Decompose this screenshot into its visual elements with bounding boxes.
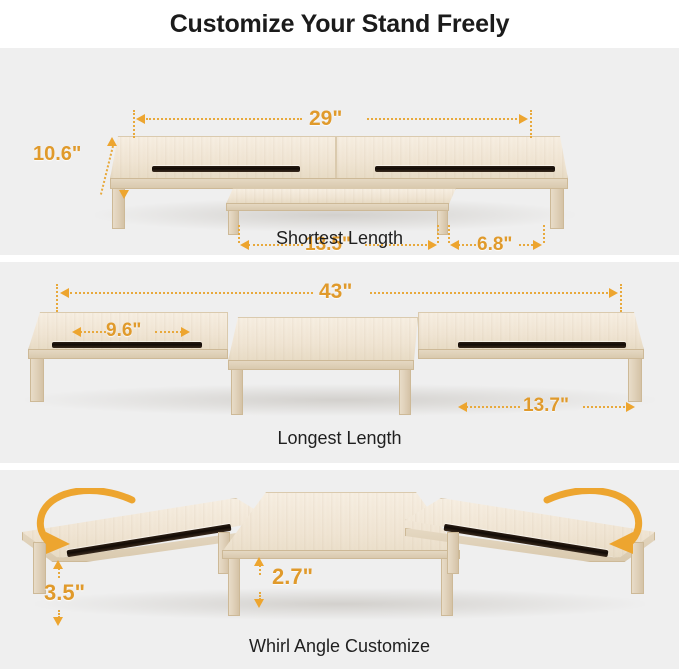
dim-43-right-tick bbox=[620, 284, 622, 312]
dim-106-arrow-bottom bbox=[119, 190, 129, 199]
panel-shortest-length: 29" 10.6" 13.5" 6.8" Shortest Length bbox=[0, 48, 679, 255]
dim-43-left-tick bbox=[56, 284, 58, 312]
right-outer-leg bbox=[628, 358, 642, 402]
panel-2-caption: Longest Length bbox=[0, 428, 679, 449]
dim-35-label: 3.5" bbox=[44, 582, 85, 604]
dim-96-label: 9.6" bbox=[106, 321, 141, 340]
dim-137-label: 13.7" bbox=[523, 396, 569, 415]
left-platform-edge bbox=[28, 349, 228, 359]
platform-front-edge bbox=[110, 178, 568, 189]
dim-96-arrow-left bbox=[72, 327, 81, 337]
right-phone-slot bbox=[458, 342, 626, 348]
left-phone-slot bbox=[52, 342, 202, 348]
center-shelf-top bbox=[228, 317, 418, 361]
center-shelf-left-leg bbox=[231, 369, 243, 415]
panel-whirl-angle: 3.5" 2.7" Whirl Angle Customize bbox=[0, 470, 679, 669]
dim-27-arrow-down bbox=[254, 599, 264, 608]
dim-35-line-top bbox=[58, 568, 60, 578]
dim-27-line-top bbox=[259, 565, 261, 575]
dim-43-arrow-left bbox=[60, 288, 69, 298]
dim-43-arrow-right bbox=[609, 288, 618, 298]
dim-29-arrow-left bbox=[136, 114, 145, 124]
dim-96-line-left bbox=[80, 331, 106, 333]
right-outer-leg bbox=[550, 188, 564, 229]
dim-43-label: 43" bbox=[319, 281, 352, 302]
dim-137-line-right bbox=[583, 406, 625, 408]
infographic-page: Customize Your Stand Freely 29" bbox=[0, 0, 679, 669]
dim-29-label: 29" bbox=[309, 108, 342, 129]
dim-96-arrow-right bbox=[181, 327, 190, 337]
right-platform-top bbox=[336, 136, 568, 179]
panel-1-caption: Shortest Length bbox=[0, 228, 679, 249]
center-shelf-edge bbox=[228, 360, 414, 370]
center-shelf-top bbox=[226, 188, 456, 204]
left-phone-slot bbox=[152, 166, 300, 172]
center-shelf-right-leg bbox=[399, 369, 411, 415]
panel-longest-length: 43" 9.6" 13.7" Longest Length bbox=[0, 262, 679, 463]
dim-29-line-right bbox=[367, 118, 517, 120]
dim-27-label: 2.7" bbox=[272, 566, 313, 588]
title-bar: Customize Your Stand Freely bbox=[0, 0, 679, 48]
panel-3-caption: Whirl Angle Customize bbox=[0, 636, 679, 657]
center-shelf-edge bbox=[226, 203, 449, 211]
dim-27-arrow-up bbox=[254, 557, 264, 566]
dim-29-arrow-right bbox=[519, 114, 528, 124]
dim-106-arrow-top bbox=[107, 137, 117, 146]
rotate-left-arrow-icon bbox=[28, 488, 138, 560]
right-inner-leg bbox=[447, 532, 459, 574]
dim-137-line-left bbox=[466, 406, 520, 408]
dim-137-arrow-right bbox=[626, 402, 635, 412]
dim-106-label: 10.6" bbox=[33, 144, 81, 164]
page-title: Customize Your Stand Freely bbox=[170, 10, 510, 39]
dim-43-line-left bbox=[70, 292, 313, 294]
dim-43-line-right bbox=[370, 292, 608, 294]
dim-29-right-tick bbox=[530, 110, 532, 138]
dim-29-line-left bbox=[146, 118, 302, 120]
left-outer-leg bbox=[30, 358, 44, 402]
dim-35-arrow-up bbox=[53, 560, 63, 569]
dim-35-arrow-down bbox=[53, 617, 63, 626]
right-phone-slot bbox=[375, 166, 555, 172]
rotate-right-arrow-icon bbox=[541, 488, 651, 560]
floor-shadow bbox=[35, 588, 645, 620]
dim-137-arrow-left bbox=[458, 402, 467, 412]
left-platform-top bbox=[110, 136, 336, 179]
dim-96-line-right bbox=[155, 331, 182, 333]
right-platform-edge bbox=[418, 349, 644, 359]
dim-29-left-tick bbox=[133, 110, 135, 138]
center-left-leg bbox=[228, 558, 240, 616]
